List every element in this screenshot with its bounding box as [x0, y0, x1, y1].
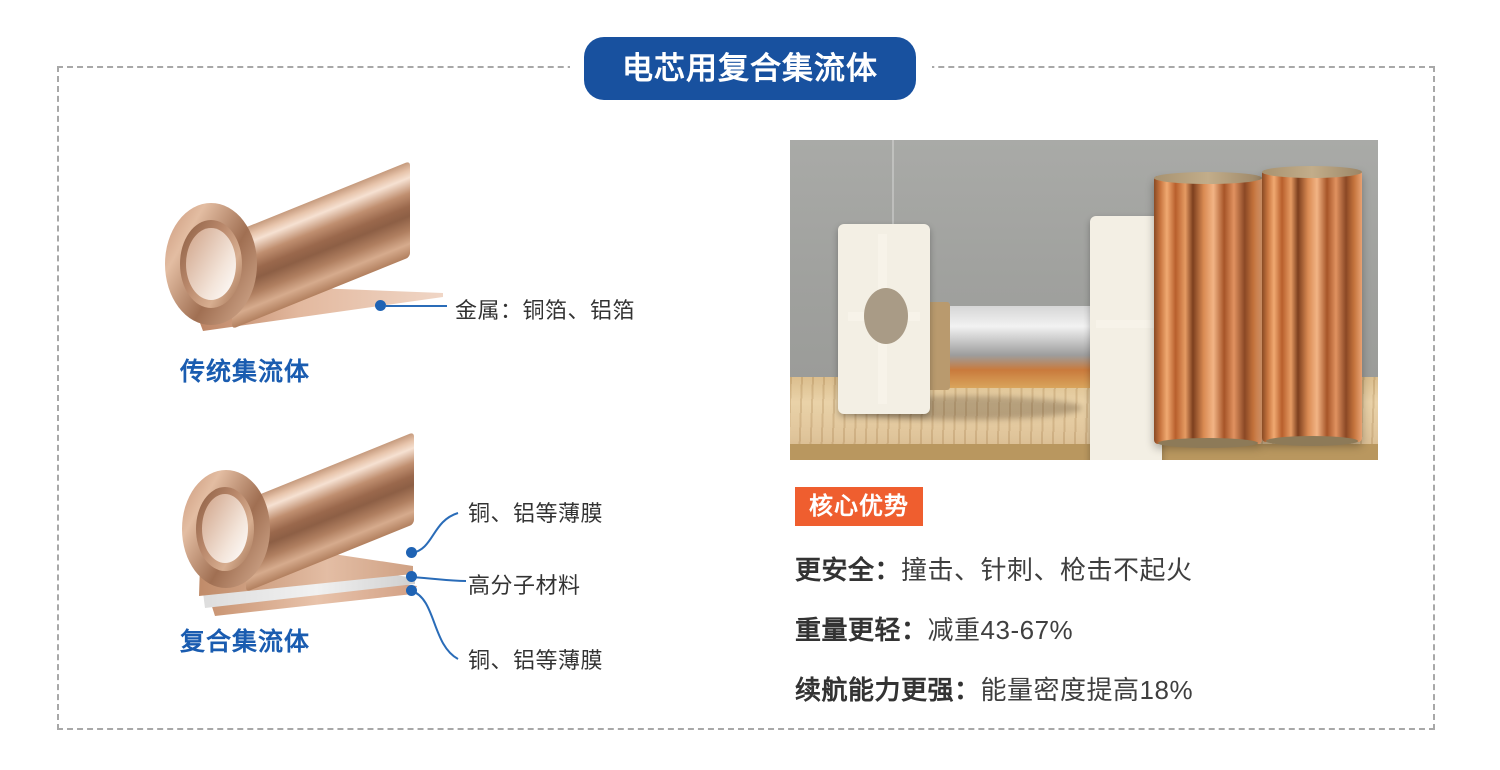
advantage-key-2: 重量更轻	[795, 615, 901, 645]
advantage-sep-3: ：	[954, 675, 981, 705]
advantage-value-3: 能量密度提高18%	[981, 675, 1194, 705]
copper-roll-bore-inner-composite	[202, 494, 248, 563]
core-advantage-title: 核心优势	[809, 495, 909, 519]
advantage-item-2: 重量更轻：减重43-67%	[795, 610, 1073, 647]
label-top-film: 铜、铝等薄膜	[468, 496, 603, 528]
leader-dot-bottom-film	[406, 585, 417, 596]
composite-collector-illustration	[0, 0, 460, 230]
advantage-item-1: 更安全：撞击、针刺、枪击不起火	[795, 550, 1193, 587]
page-title: 电芯用复合集流体	[622, 53, 878, 84]
label-bottom-film: 铜、铝等薄膜	[468, 643, 603, 675]
photo-spool-flange-right	[1090, 216, 1162, 460]
advantage-sep-1: ：	[875, 555, 902, 585]
caption-composite-collector: 复合集流体	[180, 622, 310, 658]
copper-roll-bore-inner-traditional	[186, 228, 236, 300]
title-badge-mask-right	[914, 30, 932, 108]
advantage-key-1: 更安全	[795, 555, 875, 585]
photo-copper-roll-front	[1154, 176, 1262, 444]
photo-copper-roll-back-top	[1262, 166, 1362, 178]
label-metal: 金属：铜箔、铝箔	[455, 293, 635, 325]
core-advantage-badge: 核心优势	[795, 487, 923, 526]
advantage-item-3: 续航能力更强：能量密度提高18%	[795, 670, 1193, 707]
photo-copper-roll-back	[1262, 170, 1362, 442]
label-polymer: 高分子材料	[468, 568, 581, 600]
advantage-value-2: 减重43-67%	[928, 615, 1074, 645]
advantage-sep-2: ：	[901, 615, 928, 645]
leader-dot-top-film	[406, 547, 417, 558]
copper-foil-rolls-photo	[790, 140, 1378, 460]
page-title-badge: 电芯用复合集流体	[584, 37, 916, 100]
photo-copper-roll-back-bottom	[1266, 436, 1358, 446]
photo-table-edge	[790, 444, 1378, 460]
leader-dot-polymer	[406, 571, 417, 582]
photo-copper-roll-front-top	[1154, 172, 1262, 184]
advantage-key-3: 续航能力更强	[795, 675, 954, 705]
photo-copper-roll-front-bottom	[1158, 438, 1258, 448]
photo-spool-spoke-right-a	[1096, 320, 1156, 328]
advantage-value-1: 撞击、针刺、枪击不起火	[901, 555, 1193, 585]
photo-spool-hub-left	[864, 288, 908, 344]
leader-line-metal	[385, 305, 447, 307]
caption-traditional-collector: 传统集流体	[180, 352, 310, 388]
